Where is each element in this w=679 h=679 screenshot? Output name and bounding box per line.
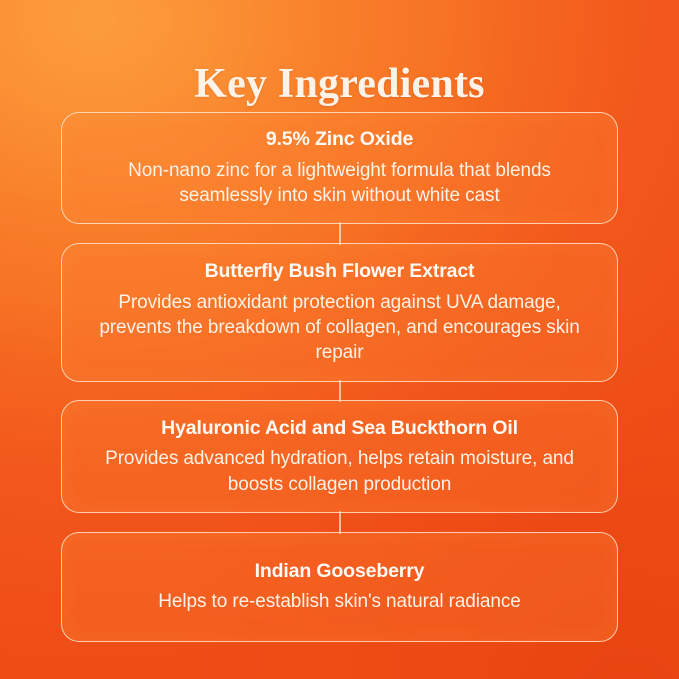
ingredient-name: Butterfly Bush Flower Extract	[205, 259, 475, 283]
ingredient-card-hyaluronic-acid-sea-buckthorn-oil: Hyaluronic Acid and Sea Buckthorn Oil Pr…	[61, 400, 618, 513]
connector-line-1	[339, 222, 341, 245]
ingredient-card-indian-gooseberry: Indian Gooseberry Helps to re-establish …	[61, 532, 618, 642]
key-ingredients-poster: Key Ingredients 9.5% Zinc Oxide Non-nano…	[0, 0, 679, 679]
ingredient-card-zinc-oxide: 9.5% Zinc Oxide Non-nano zinc for a ligh…	[61, 112, 618, 224]
poster-content: Key Ingredients 9.5% Zinc Oxide Non-nano…	[0, 0, 679, 679]
ingredient-name: Hyaluronic Acid and Sea Buckthorn Oil	[161, 416, 518, 440]
ingredient-description: Helps to re-establish skin's natural rad…	[158, 589, 520, 614]
ingredient-name: 9.5% Zinc Oxide	[266, 127, 413, 151]
ingredient-description: Non-nano zinc for a lightweight formula …	[87, 158, 592, 209]
ingredient-name: Indian Gooseberry	[255, 559, 425, 583]
ingredient-card-butterfly-bush-flower-extract: Butterfly Bush Flower Extract Provides a…	[61, 243, 618, 382]
ingredient-description: Provides antioxidant protection against …	[87, 290, 592, 366]
connector-line-3	[339, 511, 341, 534]
ingredient-description: Provides advanced hydration, helps retai…	[87, 446, 592, 497]
connector-line-2	[339, 380, 341, 402]
page-title: Key Ingredients	[0, 61, 679, 108]
